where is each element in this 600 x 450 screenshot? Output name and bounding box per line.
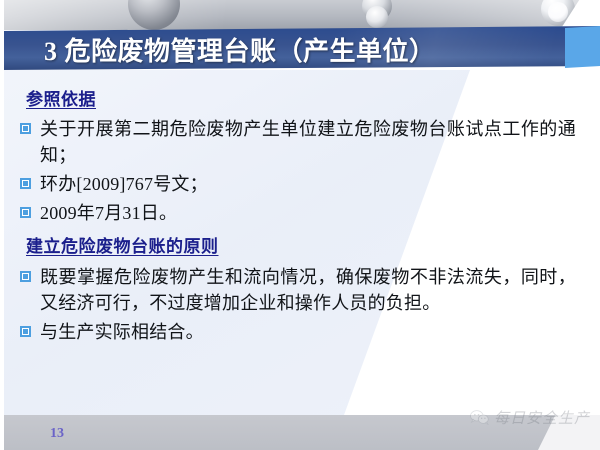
list-item-text: 环办[2009]767号文； [40, 171, 576, 197]
square-bullet-icon [20, 271, 31, 282]
sphere-decoration-icon [366, 6, 388, 28]
list-item: 与生产实际相结合。 [20, 319, 576, 345]
square-bullet-icon [20, 207, 31, 218]
page-number: 13 [50, 426, 64, 442]
square-bullet-icon [20, 326, 31, 337]
list-item: 环办[2009]767号文； [20, 171, 576, 197]
list-item: 2009年7月31日。 [20, 200, 576, 226]
slide: 3 危险废物管理台账（产生单位） 参照依据 关于开展第二期危险废物产生单位建立危… [0, 0, 600, 450]
sphere-decoration-icon [548, 2, 568, 22]
bullet-list-2: 既要掌握危险废物产生和流向情况，确保废物不非法流失，同时，又经济可行，不过度增加… [20, 264, 576, 348]
square-bullet-icon [20, 178, 31, 189]
list-item-text: 关于开展第二期危险废物产生单位建立危险废物台账试点工作的通知； [40, 116, 576, 168]
list-item-text: 2009年7月31日。 [40, 200, 576, 226]
watermark: 每日安全生产 [470, 407, 590, 428]
slide-content: 参照依据 关于开展第二期危险废物产生单位建立危险废物台账试点工作的通知； 环办[… [4, 70, 596, 415]
title-accent-block [565, 26, 600, 70]
top-decoration-band [0, 0, 600, 30]
watermark-text: 每日安全生产 [494, 407, 590, 428]
list-item: 关于开展第二期危险废物产生单位建立危险废物台账试点工作的通知； [20, 116, 576, 168]
section-heading-1: 参照依据 [26, 85, 96, 110]
bullet-list-1: 关于开展第二期危险废物产生单位建立危险废物台账试点工作的通知； 环办[2009]… [20, 116, 576, 229]
list-item-text: 既要掌握危险废物产生和流向情况，确保废物不非法流失，同时，又经济可行，不过度增加… [40, 264, 576, 316]
list-item: 既要掌握危险废物产生和流向情况，确保废物不非法流失，同时，又经济可行，不过度增加… [20, 264, 576, 316]
section-heading-2: 建立危险废物台账的原则 [26, 232, 219, 257]
slide-title: 3 危险废物管理台账（产生单位） [44, 28, 564, 70]
wechat-icon [470, 410, 489, 425]
band-shading [0, 0, 600, 30]
list-item-text: 与生产实际相结合。 [40, 319, 576, 345]
square-bullet-icon [20, 123, 31, 134]
